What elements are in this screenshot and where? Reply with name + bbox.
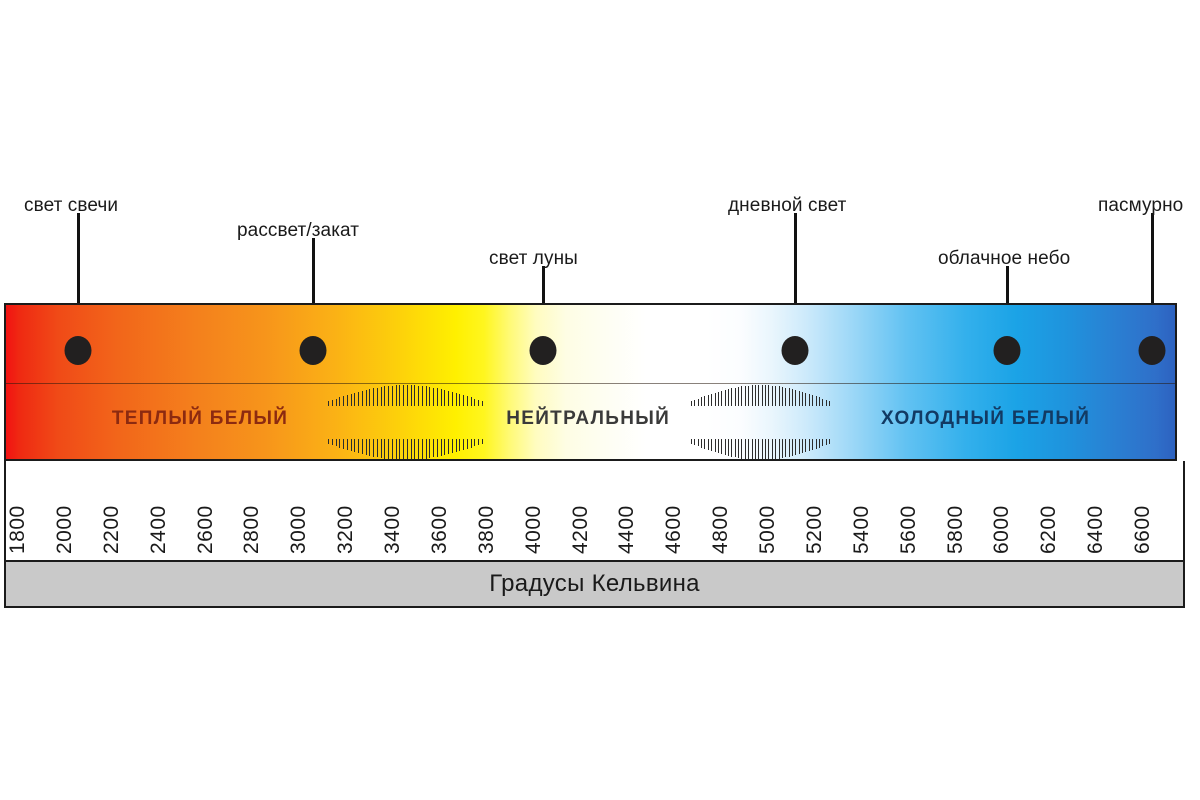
marker-label: свет луны <box>489 249 578 268</box>
zone-label: ТЕПЛЫЙ БЕЛЫЙ <box>112 409 288 428</box>
marker-dot[interactable] <box>65 336 92 365</box>
kelvin-tick-label: 5000 <box>757 505 778 554</box>
tick-cluster <box>328 439 484 461</box>
zone-label: НЕЙТРАЛЬНЫЙ <box>506 409 670 428</box>
kelvin-tick-label: 5400 <box>851 505 872 554</box>
kelvin-tick-label: 5200 <box>804 505 825 554</box>
kelvin-tick-label: 2200 <box>101 505 122 554</box>
marker-dot[interactable] <box>994 336 1021 365</box>
zone-label: ХОЛОДНЫЙ БЕЛЫЙ <box>881 409 1090 428</box>
marker-dot[interactable] <box>530 336 557 365</box>
marker-label: свет свечи <box>24 196 118 215</box>
kelvin-scale-strip: 1800200022002400260028003000320034003600… <box>4 461 1185 562</box>
kelvin-tick-label: 2400 <box>148 505 169 554</box>
caption-label: Градусы Кельвина <box>489 570 700 598</box>
marker-label: облачное небо <box>938 249 1070 268</box>
kelvin-tick-label: 4400 <box>616 505 637 554</box>
band-divider <box>6 383 1175 384</box>
marker-dot[interactable] <box>782 336 809 365</box>
kelvin-tick-label: 4600 <box>663 505 684 554</box>
kelvin-tick-label: 2800 <box>241 505 262 554</box>
marker-dot[interactable] <box>300 336 327 365</box>
color-gradient-band: ТЕПЛЫЙ БЕЛЫЙНЕЙТРАЛЬНЫЙХОЛОДНЫЙ БЕЛЫЙ <box>4 303 1177 461</box>
kelvin-tick-label: 2000 <box>54 505 75 554</box>
tick-cluster <box>691 384 831 406</box>
marker-label: дневной свет <box>728 196 846 215</box>
chart-frame: ТЕПЛЫЙ БЕЛЫЙНЕЙТРАЛЬНЫЙХОЛОДНЫЙ БЕЛЫЙ 18… <box>4 303 1185 608</box>
tick-cluster <box>328 384 484 406</box>
kelvin-tick-label: 1800 <box>7 505 28 554</box>
kelvin-tick-label: 3800 <box>476 505 497 554</box>
kelvin-tick-label: 3000 <box>288 505 309 554</box>
kelvin-tick-label: 6600 <box>1132 505 1153 554</box>
kelvin-tick-label: 4200 <box>570 505 591 554</box>
kelvin-tick-label: 4000 <box>523 505 544 554</box>
kelvin-tick-label: 2600 <box>195 505 216 554</box>
marker-label: рассвет/закат <box>237 221 359 240</box>
kelvin-tick-label: 5600 <box>898 505 919 554</box>
marker-label: пасмурно <box>1098 196 1183 215</box>
kelvin-tick-label: 5800 <box>945 505 966 554</box>
color-temperature-chart: свет свечирассвет/закатсвет луныдневной … <box>0 0 1200 800</box>
kelvin-tick-label: 3600 <box>429 505 450 554</box>
kelvin-tick-label: 6000 <box>991 505 1012 554</box>
kelvin-tick-label: 6400 <box>1085 505 1106 554</box>
marker-dot[interactable] <box>1139 336 1166 365</box>
caption-bar: Градусы Кельвина <box>4 562 1185 608</box>
kelvin-tick-label: 3200 <box>335 505 356 554</box>
tick-cluster <box>691 439 831 461</box>
kelvin-tick-label: 4800 <box>710 505 731 554</box>
kelvin-tick-label: 6200 <box>1038 505 1059 554</box>
kelvin-tick-label: 3400 <box>382 505 403 554</box>
